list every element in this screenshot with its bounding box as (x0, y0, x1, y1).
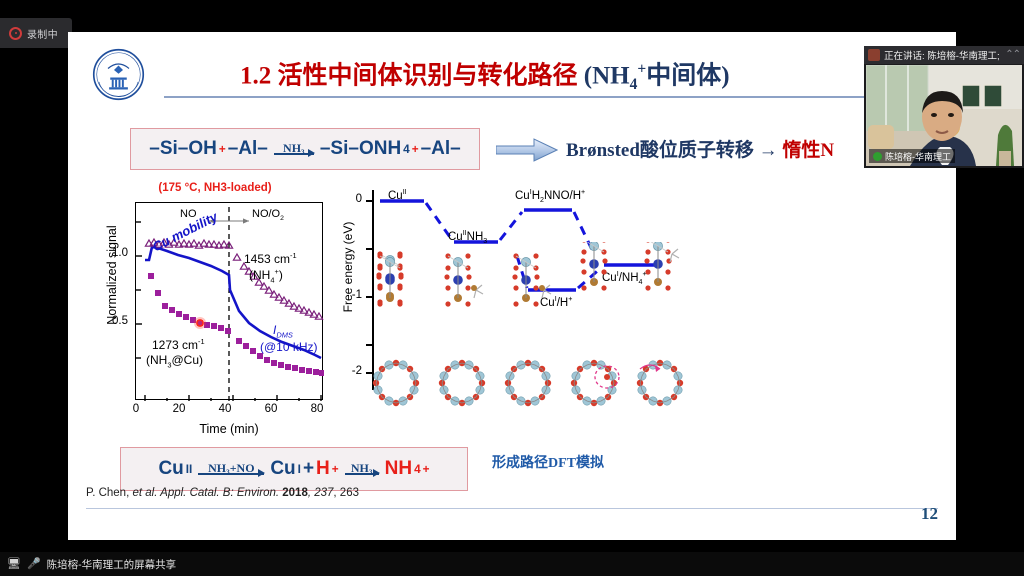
screenshare-status-bar: 🖥 🎤 陈培榕-华南理工的屏幕共享 (0, 552, 1024, 576)
eqb-s2-sup: I (298, 463, 301, 476)
citation-pages: , 263 (333, 487, 359, 499)
figure-drifts: (175 °C, NH3-loaded) Normalized signal T… (90, 182, 340, 444)
series-sublabel-nh4: (NH4+) (249, 267, 283, 284)
title-paren-open: (NH (578, 62, 630, 89)
figure-drifts-xlabel: Time (min) (135, 422, 323, 436)
eq-right-tail: –Al– (421, 138, 461, 160)
participant-name-badge: 陈培榕-华南理工 (869, 149, 955, 163)
participant-name: 陈培榕-华南理工 (885, 150, 951, 163)
citation: P. Chen, et al. Appl. Catal. B: Environ.… (86, 487, 359, 499)
arrow-shaft-3 (345, 473, 379, 475)
chevron-collapse-icon[interactable]: ⌃⌃ (1005, 49, 1020, 60)
dft-molecule-sprites-upper (372, 242, 692, 352)
video-tile[interactable]: 正在讲话: 陈培榕-华南理工; ⌃⌃ (864, 46, 1024, 168)
reaction-arrow-2: NH₃+NO (198, 462, 264, 475)
eqb-s5-sub: 4 (414, 463, 421, 476)
citation-authors: P. Chen, (86, 487, 132, 499)
dft-zeolite-rings (364, 347, 704, 417)
curve-label-idms: IDMS (273, 323, 293, 339)
figure-drifts-ylabel: Normalized signal (105, 195, 119, 355)
equation-top-text: –Si–OH+–Al– NH₃ –Si–ONH4+–Al– (149, 138, 460, 160)
recording-label: 录制中 (27, 26, 58, 41)
xtick-40: 40 (214, 403, 236, 415)
title-number: 1.2 (240, 62, 278, 89)
presentation-slide: 1.2 活性中间体识别与转化路径 (NH4+中间体) –Si–OH+–Al– N… (68, 32, 956, 540)
footer-divider (86, 508, 938, 509)
dft-state-label-3: CuIH2NNO/H+ (515, 188, 585, 204)
equation-box-top: –Si–OH+–Al– NH₃ –Si–ONH4+–Al– (130, 128, 480, 170)
eqb-s4-sup: + (332, 463, 339, 476)
eq-right-sup: + (412, 143, 419, 156)
eq-right: –Si–ONH (320, 138, 401, 160)
citation-volume: , 237 (308, 487, 334, 499)
eq-left-sup: + (219, 143, 226, 156)
university-logo-icon (82, 46, 158, 106)
eqb-s4: H (316, 458, 330, 480)
page-title: 1.2 活性中间体识别与转化路径 (NH4+中间体) (240, 54, 940, 101)
figure-dft: Free energy (eV) 0 -1 -2 (330, 182, 700, 444)
gas-label-no-o2: NO/O2 (252, 208, 284, 222)
app-root: 录制中 1.2 活性中间体识别与转化路径 (NH4+中间体) (0, 0, 1024, 576)
figure-drifts-title: (175 °C, NH3-loaded) (90, 182, 340, 194)
title-sup: + (637, 61, 646, 78)
dft-state-label-1: CuII (388, 188, 407, 202)
citation-journal: et al. Appl. Catal. B: Environ. (132, 487, 279, 499)
arrow-shaft-2 (198, 473, 264, 475)
video-tile-header: 正在讲话: 陈培榕-华南理工; ⌃⌃ (864, 46, 1024, 64)
curve-sublabel-10khz: (@10 kHz) (260, 340, 318, 354)
speaker-avatar (868, 49, 880, 61)
screen-share-icon: 🖥 (7, 559, 21, 570)
arrow-annotation-main: Brønsted酸位质子转移 → (566, 140, 782, 161)
speaking-now-label: 正在讲话: 陈培榕-华南理工; (884, 48, 1000, 62)
series-sublabel-nh3cu: (NH3@Cu) (146, 353, 203, 369)
title-main: 活性中间体识别与转化路径 (278, 62, 578, 89)
eq-left-tail: –Al– (228, 138, 268, 160)
xtick-0: 0 (125, 403, 147, 415)
xtick-20: 20 (168, 403, 190, 415)
eq-left: –Si–OH (149, 138, 217, 160)
title-paren-rest: 中间体) (646, 62, 729, 89)
figure-dft-ylabel: Free energy (eV) (341, 187, 355, 347)
reaction-arrow-1: NH₃ (274, 142, 314, 155)
xtick-80: 80 (306, 403, 328, 415)
record-icon (9, 27, 22, 40)
eqb-s2: Cu (270, 458, 295, 480)
video-feed[interactable]: 陈培榕-华南理工 (866, 65, 1022, 166)
arrow-annotation-highlight: 惰性N (782, 140, 834, 161)
slide-header: 1.2 活性中间体识别与转化路径 (NH4+中间体) (68, 32, 956, 102)
equation-box-bottom: CuII NH₃+NO CuI + H+ NH₃ NH4+ (120, 447, 468, 491)
microphone-icon-bar: 🎤 (27, 559, 41, 570)
dft-tlabel-minus1: -1 (338, 289, 362, 301)
eq-right-sub: 4 (403, 143, 410, 156)
title-sub: 4 (630, 76, 638, 93)
eqb-s1-sup: II (186, 463, 193, 476)
recording-badge[interactable]: 录制中 (0, 18, 72, 48)
screenshare-label: 陈培榕-华南理工的屏幕共享 (47, 557, 177, 572)
ytick-0p5: 0.5 (100, 315, 128, 327)
caption-right: 形成路径DFT模拟 (448, 452, 648, 472)
eqb-s3: + (303, 458, 314, 480)
reaction-arrow-3: NH₃ (345, 462, 379, 475)
eqb-s5-sup: + (423, 463, 430, 476)
page-number: 12 (921, 504, 938, 524)
arrow-shaft (274, 153, 314, 155)
eqb-s5: NH (385, 458, 412, 480)
dft-tlabel-0: 0 (338, 193, 362, 205)
microphone-icon (873, 152, 882, 161)
series-label-1453: 1453 cm-1 (244, 251, 297, 266)
figure-drifts-plot: NO NO/O2 Cu mobility 1453 cm-1 (NH4+) 12… (135, 202, 323, 400)
arrow-annotation-text: Brønsted酸位质子转移 → 惰性N (566, 135, 834, 162)
xtick-60: 60 (260, 403, 282, 415)
block-arrow-icon (496, 138, 558, 162)
dft-tlabel-minus2: -2 (338, 365, 362, 377)
series-label-1273: 1273 cm-1 (152, 337, 205, 352)
equation-bottom-text: CuII NH₃+NO CuI + H+ NH₃ NH4+ (158, 458, 429, 480)
citation-year: 2018 (279, 487, 308, 499)
ytick-1p0: 1.0 (100, 247, 128, 259)
eqb-s1: Cu (158, 458, 183, 480)
